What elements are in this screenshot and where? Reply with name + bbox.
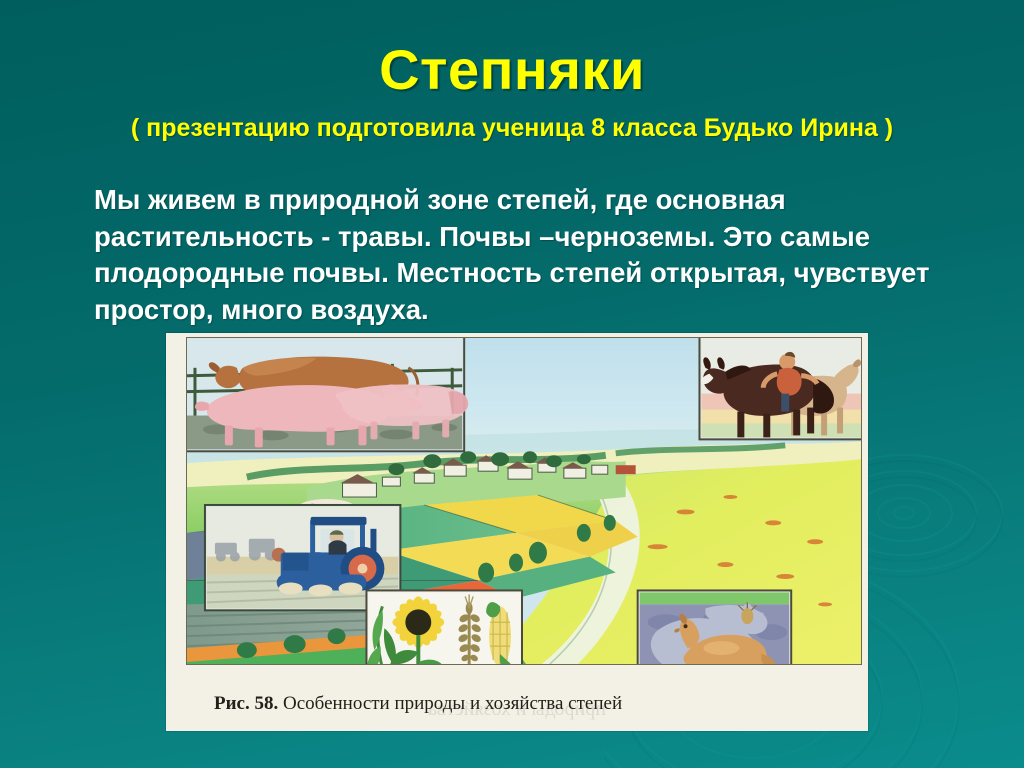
presentation-slide: Степняки ( презентацию подготовила учени… xyxy=(0,0,1024,768)
figure-caption: Рис. 58. Особенности природы и хозяйства… xyxy=(214,693,834,715)
inset-horses xyxy=(699,338,861,439)
slide-body-text: Мы живем в природной зоне степей, где ос… xyxy=(94,182,939,328)
slide-subtitle: ( презентацию подготовила ученица 8 клас… xyxy=(0,116,1024,141)
figure-caption-text: Особенности природы и хозяйства степей xyxy=(283,693,622,714)
figure-illustration xyxy=(186,337,862,665)
figure-caption-number: Рис. 58. xyxy=(214,693,278,714)
figure-scan: природы и хозяйства Рис. 58. Особенности… xyxy=(166,333,868,731)
inset-crops xyxy=(366,587,522,664)
inset-livestock xyxy=(187,338,468,451)
inset-marmot xyxy=(638,590,792,664)
slide-title: Степняки xyxy=(0,42,1024,98)
